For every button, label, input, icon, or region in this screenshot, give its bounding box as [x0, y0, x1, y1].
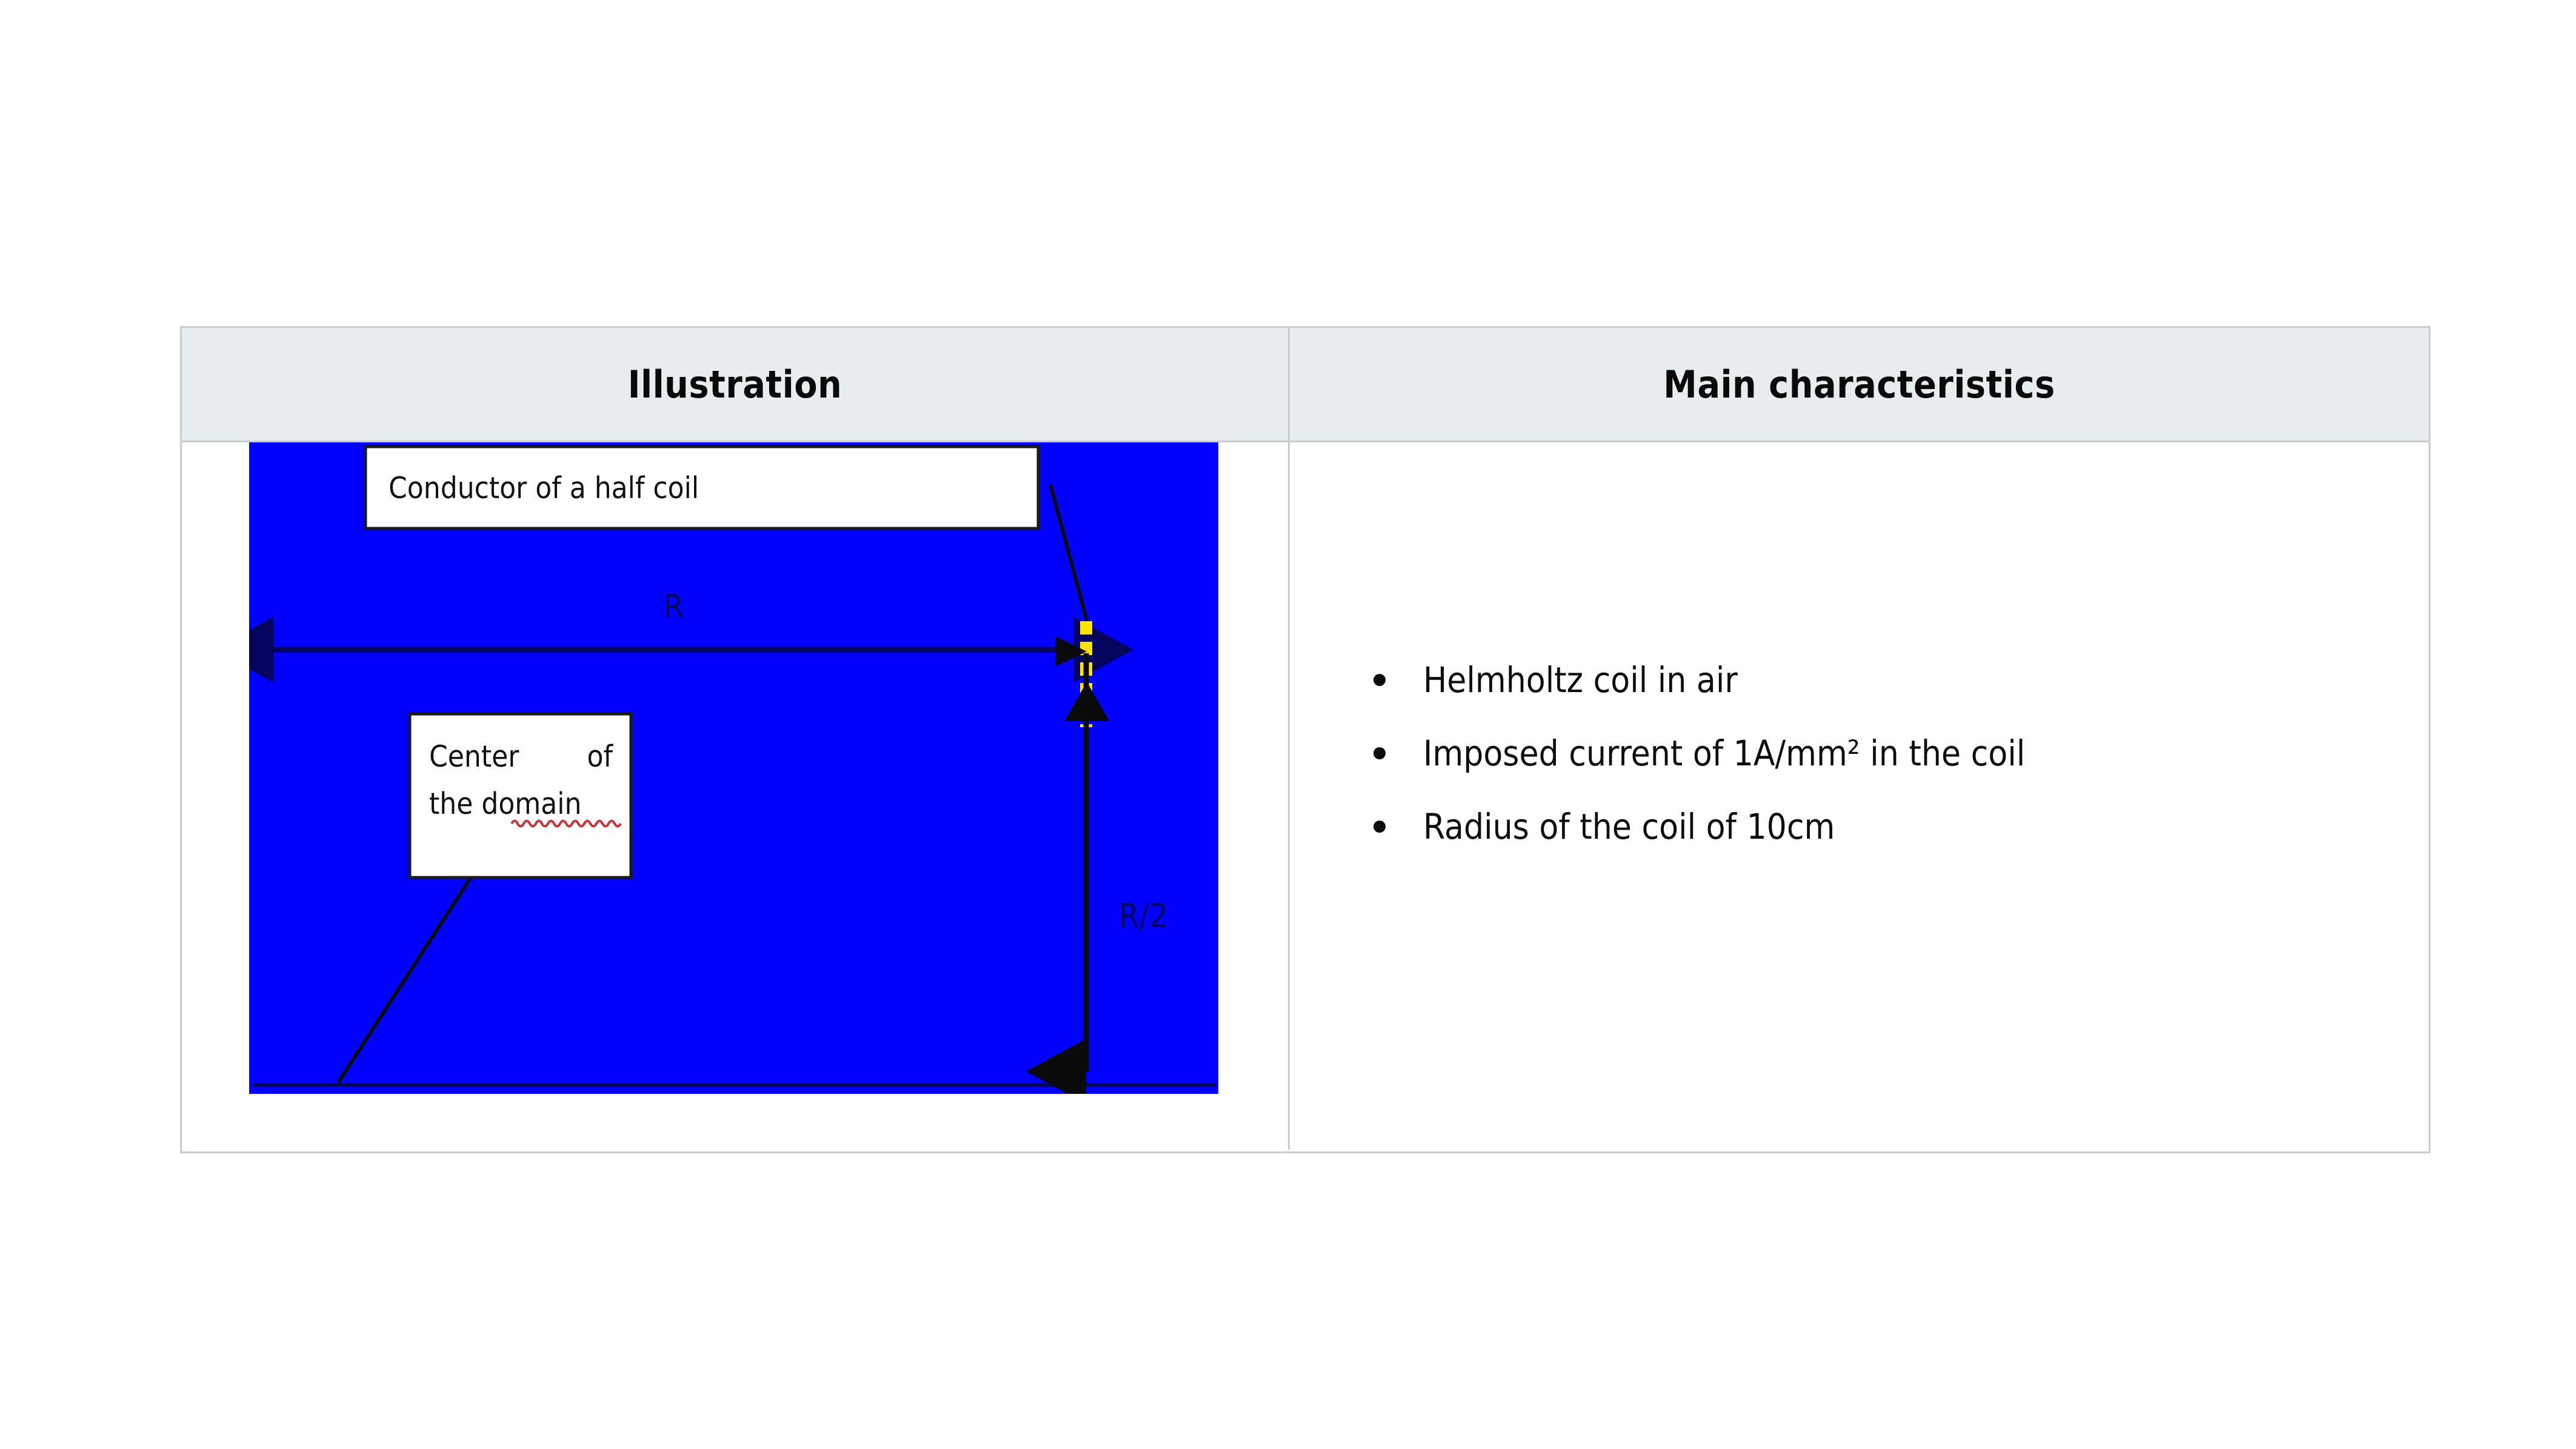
bullet-dot-icon: [1373, 821, 1386, 833]
center-callout-box: Center of the domain: [410, 714, 631, 878]
center-callout-text-line1-right: of: [587, 739, 614, 774]
half-radius-label-text: R/2: [1118, 897, 1167, 935]
list-item: Imposed current of 1A/mm² in the coil: [1369, 735, 2369, 772]
bullet-dot-icon: [1373, 674, 1386, 686]
conductor-callout-text: Conductor of a half coil: [389, 471, 699, 505]
list-item: Helmholtz coil in air: [1369, 662, 2369, 699]
list-item-label: Radius of the coil of 10cm: [1423, 806, 1835, 847]
list-item-label: Helmholtz coil in air: [1423, 659, 1738, 701]
table-body-row: R R/2 Conductor of a half coil: [182, 442, 2429, 1150]
helmholtz-coil-diagram: R R/2 Conductor of a half coil: [249, 442, 1218, 1094]
conductor-callout-box: Conductor of a half coil: [365, 447, 1038, 528]
radius-label-text: R: [663, 588, 684, 626]
table-header-row: Illustration Main characteristics: [182, 328, 2429, 442]
header-title-main-characteristics: Main characteristics: [1663, 362, 2055, 407]
list-item-label: Imposed current of 1A/mm² in the coil: [1423, 733, 2025, 774]
body-cell-illustration: R R/2 Conductor of a half coil: [182, 442, 1288, 1150]
list-item: Radius of the coil of 10cm: [1369, 808, 2369, 845]
header-title-illustration: Illustration: [628, 362, 843, 407]
body-cell-main-characteristics: Helmholtz coil in air Imposed current of…: [1288, 442, 2429, 1150]
center-callout-text-line2: the domain: [429, 787, 581, 821]
header-cell-illustration: Illustration: [182, 328, 1288, 442]
bullet-dot-icon: [1373, 747, 1386, 759]
characteristics-list: Helmholtz coil in air Imposed current of…: [1369, 662, 2369, 845]
comparison-table: Illustration Main characteristics: [180, 326, 2431, 1153]
center-callout-text-line1-left: Center: [429, 739, 519, 774]
header-cell-main-characteristics: Main characteristics: [1288, 328, 2429, 442]
